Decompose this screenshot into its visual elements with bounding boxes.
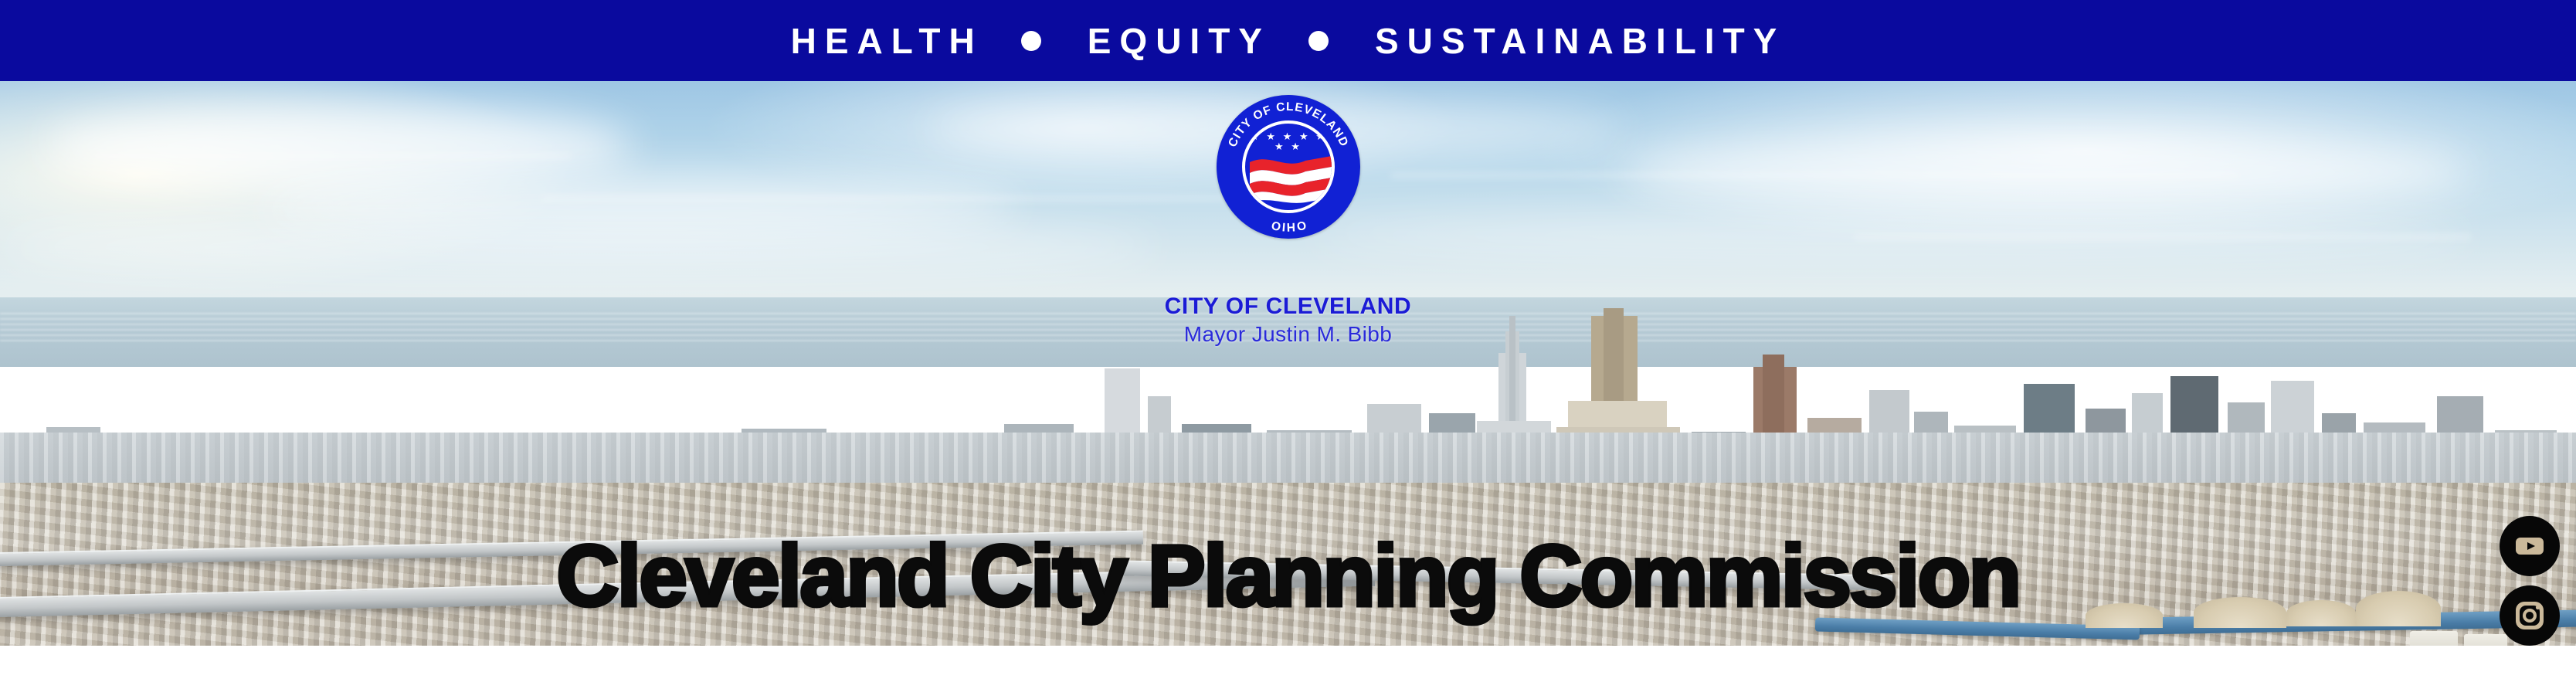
- cloud-wisp: [541, 197, 1236, 200]
- svg-text:OHIO: OHIO: [1270, 218, 1308, 233]
- page-title: Cleveland City Planning Commission: [0, 533, 2576, 619]
- seal-inner-disc: ★ ★ ★ ★ ★ ★ ★: [1242, 120, 1335, 213]
- cloud: [1622, 135, 2472, 209]
- storage-tank: [2410, 631, 2458, 646]
- cloud-wisp: [1390, 174, 2240, 177]
- org-name: CITY OF CLEVELAND: [0, 293, 2576, 320]
- social-link-youtube[interactable]: [2500, 516, 2560, 576]
- tagline-word-health: HEALTH: [791, 23, 983, 59]
- social-link-instagram[interactable]: [2500, 585, 2560, 646]
- tagline-banner: HEALTH EQUITY SUSTAINABILITY: [0, 0, 2576, 81]
- tagline-word-sustainability: SUSTAINABILITY: [1375, 23, 1785, 59]
- social-links: [2499, 516, 2561, 646]
- tagline-word-equity: EQUITY: [1088, 23, 1271, 59]
- youtube-icon: [2513, 529, 2547, 563]
- bullet-dot-icon: [1308, 31, 1329, 51]
- cloud-wisp: [1854, 236, 2472, 239]
- cloud-wisp: [93, 154, 572, 158]
- mayor-line: Mayor Justin M. Bibb: [0, 322, 2576, 347]
- instagram-icon: [2512, 598, 2547, 633]
- bullet-dot-icon: [1021, 31, 1041, 51]
- seal-arc-bottom: OHIO: [1270, 218, 1308, 233]
- hero-photo: CITY OF CLEVELAND OHIO ★ ★ ★ ★ ★ ★ ★ CIT…: [0, 81, 2576, 646]
- cloud: [0, 220, 1159, 274]
- waving-flag-icon: [1248, 151, 1335, 205]
- seal-stars: ★ ★ ★ ★ ★ ★ ★: [1245, 131, 1332, 151]
- city-of-cleveland-seal-icon: CITY OF CLEVELAND OHIO ★ ★ ★ ★ ★ ★ ★: [1217, 95, 1360, 239]
